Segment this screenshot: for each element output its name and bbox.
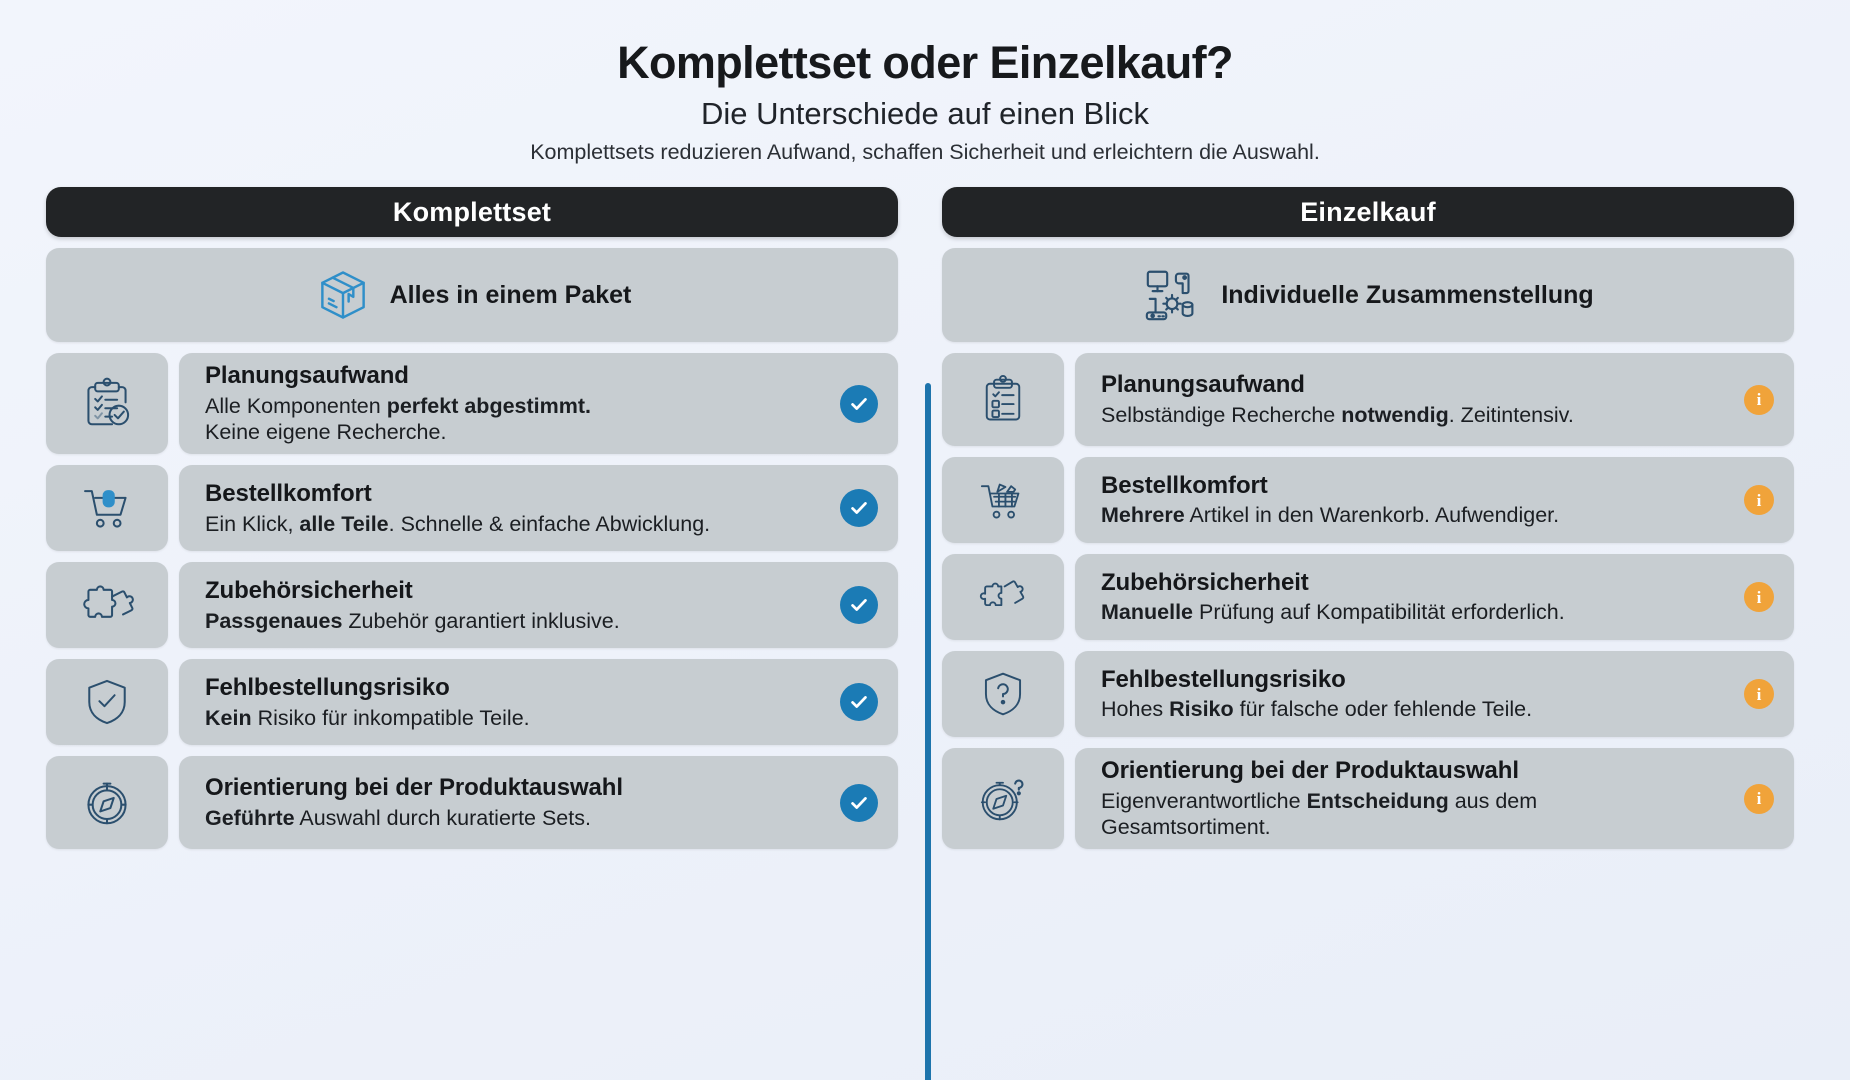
info-glyph: i <box>1757 790 1762 807</box>
row-icon-box <box>46 562 168 648</box>
row-desc-pre: Alle Komponenten <box>205 394 387 418</box>
column-header-einzelkauf: Einzelkauf <box>942 187 1794 237</box>
compass-icon <box>80 776 134 830</box>
row-planungsaufwand: Planungsaufwand Alle Komponenten perfekt… <box>46 353 898 454</box>
row-body: Zubehörsicherheit Passgenaues Zubehör ga… <box>179 562 898 648</box>
column-subheader-komplettset: Alles in einem Paket <box>46 248 898 342</box>
row-desc-bold: Manuelle <box>1101 600 1193 624</box>
row-body: Orientierung bei der Produktauswahl Eige… <box>1075 748 1794 849</box>
row-desc-post: Risiko für inkompatible Teile. <box>252 706 530 730</box>
check-badge-icon <box>840 683 878 721</box>
row-title: Zubehörsicherheit <box>1101 569 1730 598</box>
row-planungsaufwand: Planungsaufwand Selbständige Recherche n… <box>942 353 1794 446</box>
info-glyph: i <box>1757 686 1762 703</box>
row-fehlbestellungsrisiko: Fehlbestellungsrisiko Kein Risiko für in… <box>46 659 898 745</box>
row-icon-box <box>942 554 1064 640</box>
info-badge-icon: i <box>1744 679 1774 709</box>
row-body: Bestellkomfort Mehrere Artikel in den Wa… <box>1075 457 1794 543</box>
row-desc-bold: Kein <box>205 706 252 730</box>
row-orientierung: Orientierung bei der Produktauswahl Eige… <box>942 748 1794 849</box>
row-desc: Alle Komponenten perfekt abgestimmt. Kei… <box>205 393 826 445</box>
row-desc-bold: Risiko <box>1169 697 1234 721</box>
rows-komplettset: Planungsaufwand Alle Komponenten perfekt… <box>46 353 898 849</box>
row-texts: Bestellkomfort Mehrere Artikel in den Wa… <box>1101 472 1730 529</box>
row-desc: Eigenverantwortliche Entscheidung aus de… <box>1101 788 1730 840</box>
row-title: Bestellkomfort <box>1101 472 1730 501</box>
row-desc-post: Artikel in den Warenkorb. Aufwendiger. <box>1185 503 1559 527</box>
column-header-label: Einzelkauf <box>1300 197 1436 228</box>
row-texts: Planungsaufwand Alle Komponenten perfekt… <box>205 362 826 445</box>
page-subtitle: Die Unterschiede auf einen Blick <box>0 96 1850 132</box>
row-bestellkomfort: Bestellkomfort Ein Klick, alle Teile. Sc… <box>46 465 898 551</box>
row-icon-box <box>942 457 1064 543</box>
row-desc-bold: perfekt abgestimmt. <box>387 394 591 418</box>
row-title: Planungsaufwand <box>1101 371 1730 400</box>
column-subheader-label: Alles in einem Paket <box>390 281 632 310</box>
row-body: Zubehörsicherheit Manuelle Prüfung auf K… <box>1075 554 1794 640</box>
clipboard-check-icon <box>80 377 134 431</box>
row-body: Bestellkomfort Ein Klick, alle Teile. Sc… <box>179 465 898 551</box>
components-gear-icon <box>1142 264 1204 326</box>
row-desc-post: Auswahl durch kuratierte Sets. <box>295 806 591 830</box>
shield-check-icon <box>80 675 134 729</box>
row-desc-bold: Entscheidung <box>1307 789 1449 813</box>
row-desc-pre: Hohes <box>1101 697 1169 721</box>
row-desc: Mehrere Artikel in den Warenkorb. Aufwen… <box>1101 502 1730 528</box>
row-body: Fehlbestellungsrisiko Hohes Risiko für f… <box>1075 651 1794 737</box>
row-desc-line2: Keine eigene Recherche. <box>205 419 826 445</box>
row-desc: Manuelle Prüfung auf Kompatibilität erfo… <box>1101 599 1730 625</box>
info-badge-icon: i <box>1744 385 1774 415</box>
row-title: Bestellkomfort <box>205 480 826 509</box>
page-tagline: Komplettsets reduzieren Aufwand, schaffe… <box>0 140 1850 165</box>
clipboard-list-icon <box>977 374 1029 426</box>
row-title: Orientierung bei der Produktauswahl <box>1101 757 1730 786</box>
column-subheader-label: Individuelle Zusammenstellung <box>1221 281 1593 310</box>
column-einzelkauf: Einzelkauf <box>942 187 1794 849</box>
column-header-label: Komplettset <box>393 197 551 228</box>
row-icon-box <box>942 353 1064 446</box>
row-texts: Bestellkomfort Ein Klick, alle Teile. Sc… <box>205 480 826 537</box>
shopping-cart-icon <box>80 481 134 535</box>
rows-einzelkauf: Planungsaufwand Selbständige Recherche n… <box>942 353 1794 849</box>
comparison-columns: Komplettset Alles in einem Paket <box>0 165 1850 849</box>
check-badge-icon <box>840 489 878 527</box>
row-desc-pre: Selbständige Recherche <box>1101 403 1341 427</box>
info-badge-icon: i <box>1744 485 1774 515</box>
row-desc-post: Zubehör garantiert inklusive. <box>342 609 619 633</box>
row-desc: Passgenaues Zubehör garantiert inklusive… <box>205 608 826 634</box>
column-subheader-einzelkauf: Individuelle Zusammenstellung <box>942 248 1794 342</box>
shield-question-icon <box>977 668 1029 720</box>
check-badge-icon <box>840 586 878 624</box>
row-zubehoersicherheit: Zubehörsicherheit Manuelle Prüfung auf K… <box>942 554 1794 640</box>
check-badge-icon <box>840 784 878 822</box>
row-icon-box <box>46 756 168 849</box>
check-badge-icon <box>840 385 878 423</box>
row-desc-post: für falsche oder fehlende Teile. <box>1234 697 1532 721</box>
row-bestellkomfort: Bestellkomfort Mehrere Artikel in den Wa… <box>942 457 1794 543</box>
page-title: Komplettset oder Einzelkauf? <box>0 38 1850 88</box>
shopping-cart-full-icon <box>977 474 1029 526</box>
info-badge-icon: i <box>1744 582 1774 612</box>
row-desc-bold: Geführte <box>205 806 295 830</box>
row-desc-line2: Gesamtsortiment. <box>1101 814 1730 840</box>
row-desc-bold: Mehrere <box>1101 503 1185 527</box>
column-divider <box>925 383 931 1080</box>
puzzle-pieces-loose-icon <box>977 571 1029 623</box>
row-desc-pre: Eigenverantwortliche <box>1101 789 1307 813</box>
package-box-icon <box>313 265 373 325</box>
row-icon-box <box>942 651 1064 737</box>
info-glyph: i <box>1757 589 1762 606</box>
row-texts: Planungsaufwand Selbständige Recherche n… <box>1101 371 1730 428</box>
row-texts: Fehlbestellungsrisiko Hohes Risiko für f… <box>1101 666 1730 723</box>
column-header-komplettset: Komplettset <box>46 187 898 237</box>
row-desc-bold: notwendig <box>1341 403 1448 427</box>
column-komplettset: Komplettset Alles in einem Paket <box>46 187 898 849</box>
row-zubehoersicherheit: Zubehörsicherheit Passgenaues Zubehör ga… <box>46 562 898 648</box>
row-texts: Zubehörsicherheit Passgenaues Zubehör ga… <box>205 577 826 634</box>
row-title: Fehlbestellungsrisiko <box>1101 666 1730 695</box>
row-title: Orientierung bei der Produktauswahl <box>205 774 826 803</box>
row-title: Zubehörsicherheit <box>205 577 826 606</box>
row-body: Planungsaufwand Selbständige Recherche n… <box>1075 353 1794 446</box>
row-title: Fehlbestellungsrisiko <box>205 674 826 703</box>
row-body: Orientierung bei der Produktauswahl Gefü… <box>179 756 898 849</box>
row-desc-pre: Ein Klick, <box>205 512 299 536</box>
compass-question-icon <box>977 773 1029 825</box>
info-badge-icon: i <box>1744 784 1774 814</box>
info-glyph: i <box>1757 391 1762 408</box>
row-desc: Geführte Auswahl durch kuratierte Sets. <box>205 805 826 831</box>
row-desc: Hohes Risiko für falsche oder fehlende T… <box>1101 696 1730 722</box>
row-desc-post: aus dem <box>1449 789 1537 813</box>
row-desc-post: . Zeitintensiv. <box>1449 403 1574 427</box>
info-glyph: i <box>1757 492 1762 509</box>
row-texts: Orientierung bei der Produktauswahl Eige… <box>1101 757 1730 840</box>
row-texts: Zubehörsicherheit Manuelle Prüfung auf K… <box>1101 569 1730 626</box>
row-orientierung: Orientierung bei der Produktauswahl Gefü… <box>46 756 898 849</box>
row-icon-box <box>46 659 168 745</box>
row-icon-box <box>942 748 1064 849</box>
puzzle-pieces-icon <box>80 578 134 632</box>
row-body: Fehlbestellungsrisiko Kein Risiko für in… <box>179 659 898 745</box>
row-fehlbestellungsrisiko: Fehlbestellungsrisiko Hohes Risiko für f… <box>942 651 1794 737</box>
row-desc-bold: Passgenaues <box>205 609 342 633</box>
row-title: Planungsaufwand <box>205 362 826 391</box>
row-desc-post: Prüfung auf Kompatibilität erforderlich. <box>1193 600 1565 624</box>
row-desc: Ein Klick, alle Teile. Schnelle & einfac… <box>205 511 826 537</box>
infographic-page: Komplettset oder Einzelkauf? Die Untersc… <box>0 0 1850 1080</box>
row-texts: Orientierung bei der Produktauswahl Gefü… <box>205 774 826 831</box>
row-desc-post: . Schnelle & einfache Abwicklung. <box>389 512 711 536</box>
row-icon-box <box>46 353 168 454</box>
row-icon-box <box>46 465 168 551</box>
row-desc: Kein Risiko für inkompatible Teile. <box>205 705 826 731</box>
row-desc: Selbständige Recherche notwendig. Zeitin… <box>1101 402 1730 428</box>
row-texts: Fehlbestellungsrisiko Kein Risiko für in… <box>205 674 826 731</box>
row-body: Planungsaufwand Alle Komponenten perfekt… <box>179 353 898 454</box>
row-desc-bold: alle Teile <box>299 512 388 536</box>
page-header: Komplettset oder Einzelkauf? Die Untersc… <box>0 0 1850 165</box>
